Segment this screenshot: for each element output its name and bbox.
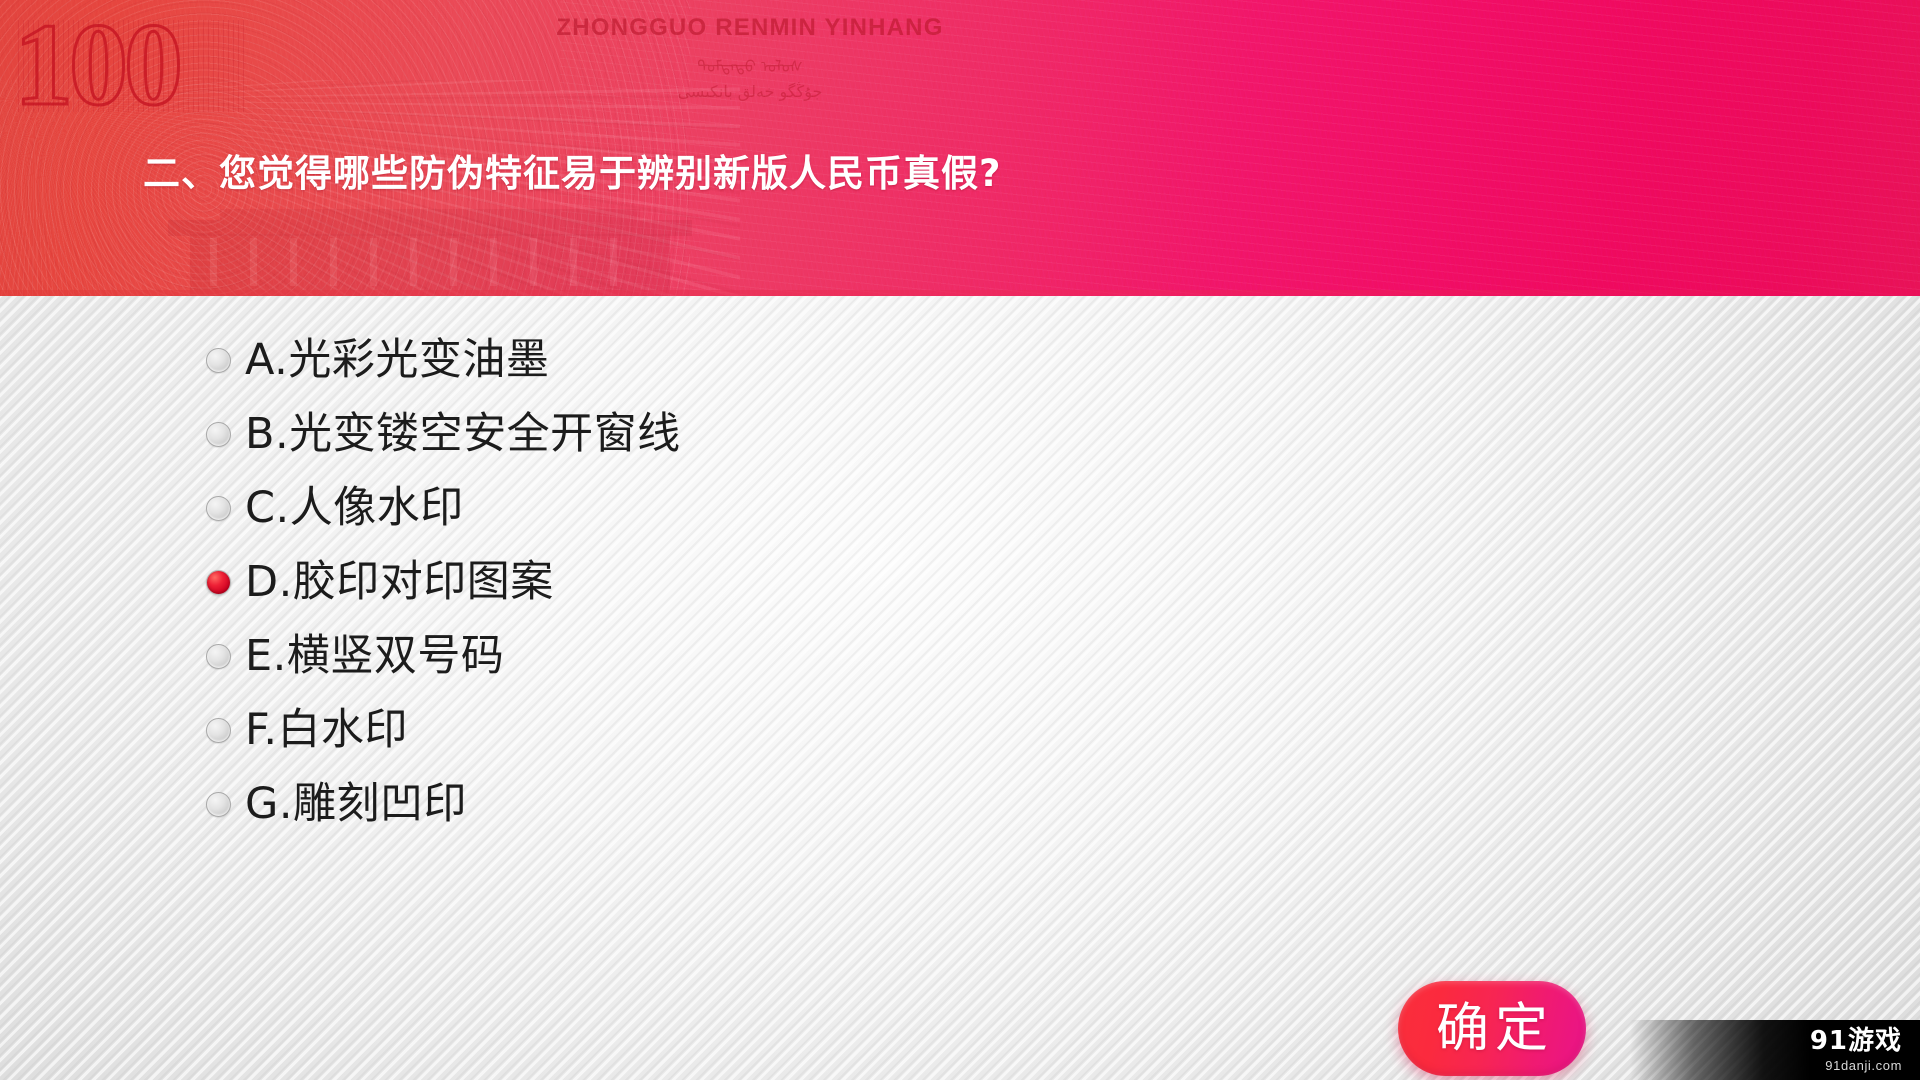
radio-button-d-selected[interactable] — [206, 570, 231, 595]
radio-button-g[interactable] — [206, 792, 231, 817]
denomination-100-numeral: 100 — [14, 6, 179, 124]
option-row-c[interactable]: C.人像水印 — [206, 471, 1106, 545]
option-label-f: F.白水印 — [245, 709, 408, 752]
confirm-button[interactable]: 确定 — [1398, 981, 1586, 1076]
option-label-a: A.光彩光变油墨 — [245, 339, 549, 382]
radio-button-b[interactable] — [206, 422, 231, 447]
radio-button-c[interactable] — [206, 496, 231, 521]
option-label-c: C.人像水印 — [245, 487, 464, 530]
banknote-header-banner: 100 ZHONGGUO RENMIN YINHANG ᠳᠤᠮᠳᠠᠳᠤ ᠤᠯᠤᠰ… — [0, 0, 1920, 296]
watermark-domain: 91danji.com — [1825, 1059, 1902, 1072]
option-row-a[interactable]: A.光彩光变油墨 — [206, 323, 1106, 397]
watermark-brand: 91游戏 — [1810, 1028, 1902, 1054]
bank-name-block: ZHONGGUO RENMIN YINHANG ᠳᠤᠮᠳᠠᠳᠤ ᠤᠯᠤᠰ جۇڭ… — [540, 14, 960, 101]
option-label-b: B.光变镂空安全开窗线 — [245, 413, 681, 456]
options-list: A.光彩光变油墨B.光变镂空安全开窗线C.人像水印D.胶印对印图案E.横竖双号码… — [206, 323, 1106, 841]
option-row-f[interactable]: F.白水印 — [206, 693, 1106, 767]
option-row-d[interactable]: D.胶印对印图案 — [206, 545, 1106, 619]
option-row-g[interactable]: G.雕刻凹印 — [206, 767, 1106, 841]
bank-name-uyghur: جۇڭگو خەلق بانكىسى — [540, 82, 960, 101]
option-label-d: D.胶印对印图案 — [245, 561, 554, 604]
option-row-e[interactable]: E.横竖双号码 — [206, 619, 1106, 693]
radio-button-a[interactable] — [206, 348, 231, 373]
radio-button-f[interactable] — [206, 718, 231, 743]
bank-name-latin: ZHONGGUO RENMIN YINHANG — [540, 14, 960, 42]
question-title: 二、您觉得哪些防伪特征易于辨别新版人民币真假? — [143, 143, 1001, 197]
option-label-g: G.雕刻凹印 — [245, 783, 467, 826]
bank-name-mongolian: ᠳᠤᠮᠳᠠᠳᠤ ᠤᠯᠤᠰ — [540, 49, 960, 77]
site-watermark: 91游戏 91danji.com — [1630, 1020, 1920, 1080]
option-row-b[interactable]: B.光变镂空安全开窗线 — [206, 397, 1106, 471]
option-label-e: E.横竖双号码 — [245, 635, 504, 678]
confirm-button-label: 确定 — [1430, 1002, 1554, 1055]
answer-panel: A.光彩光变油墨B.光变镂空安全开窗线C.人像水印D.胶印对印图案E.横竖双号码… — [0, 296, 1920, 1080]
radio-button-e[interactable] — [206, 644, 231, 669]
